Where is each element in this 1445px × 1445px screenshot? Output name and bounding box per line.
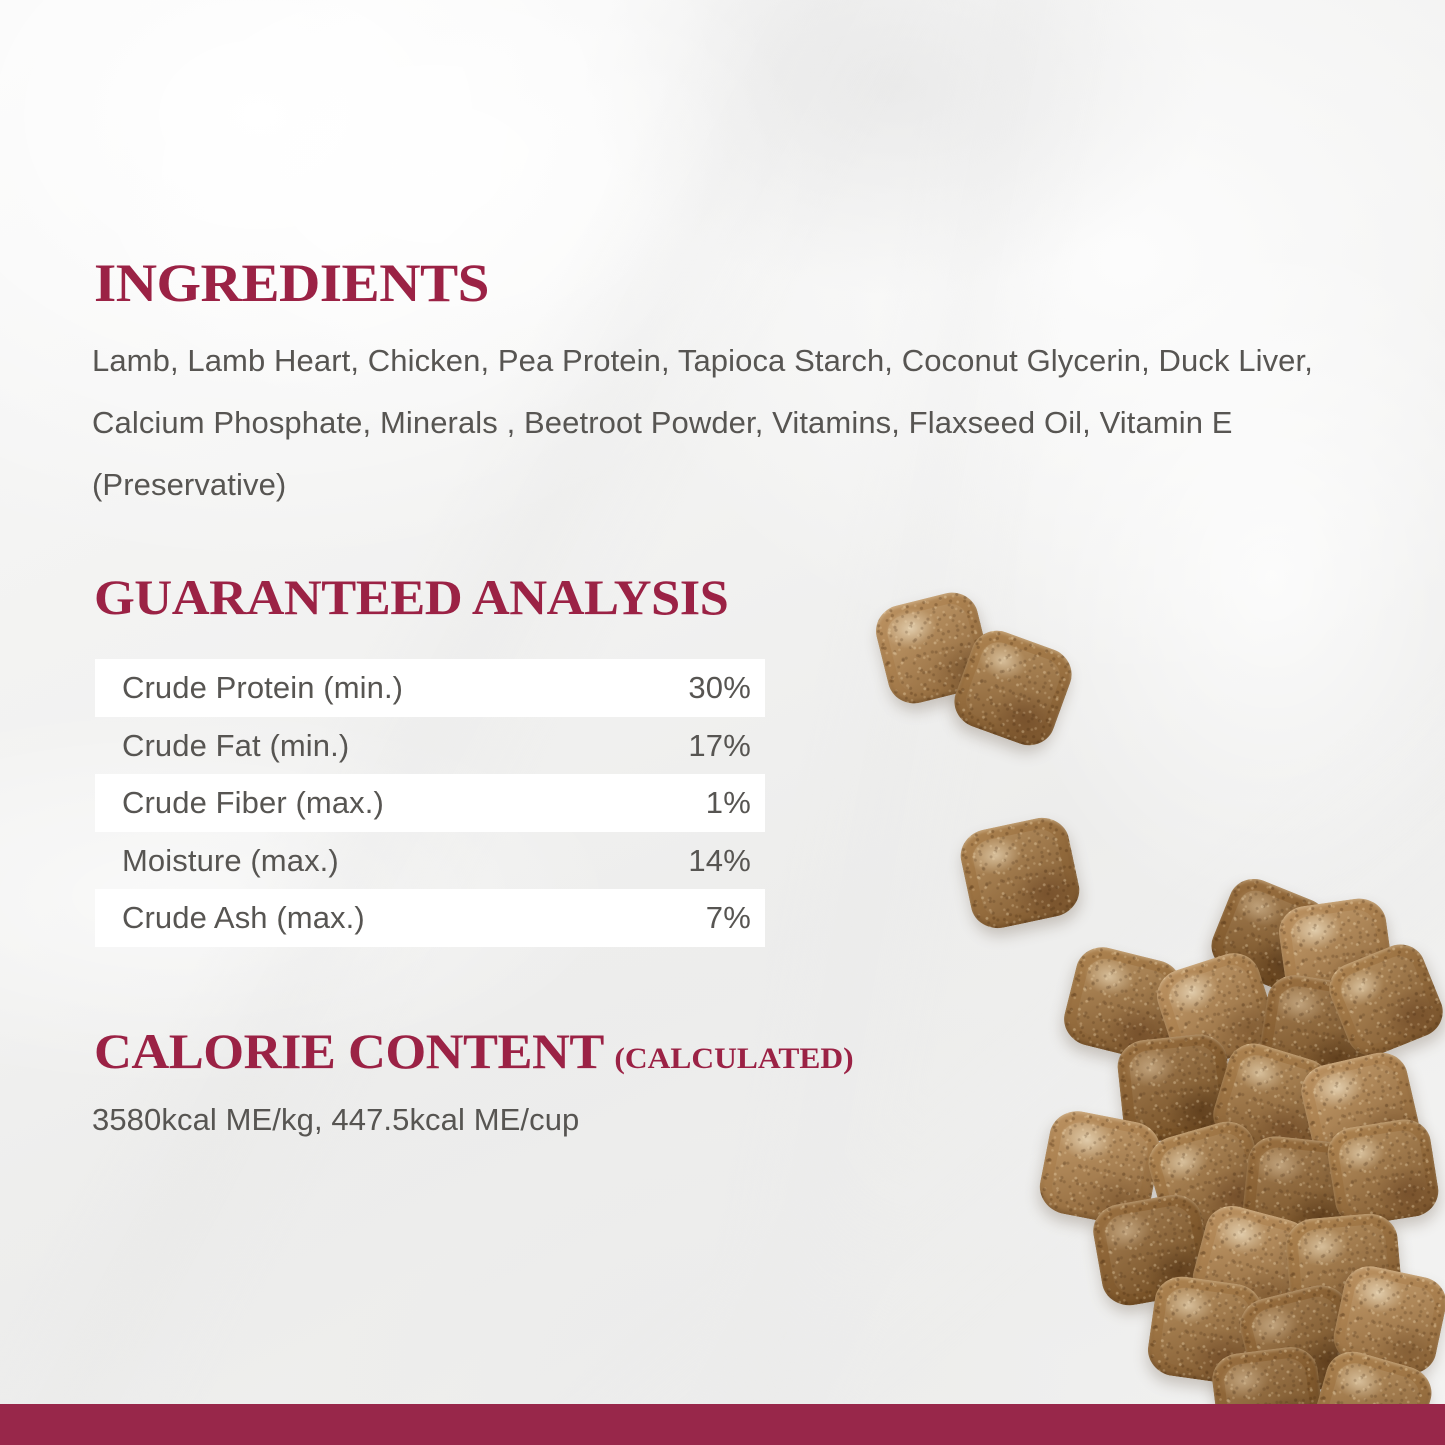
table-row: Crude Fiber (max.)1%: [95, 774, 765, 832]
analysis-value: 1%: [706, 787, 751, 818]
analysis-label: Moisture (max.): [122, 845, 339, 876]
table-row: Moisture (max.)14%: [95, 832, 765, 890]
table-row: Crude Fat (min.)17%: [95, 717, 765, 775]
calorie-content-heading: CALORIE CONTENT(CALCULATED): [94, 1026, 854, 1076]
analysis-label: Crude Fiber (max.): [122, 787, 384, 818]
analysis-value: 7%: [706, 902, 751, 933]
calorie-content-heading-main: CALORIE CONTENT: [94, 1023, 604, 1079]
packaging-panel: INGREDIENTS Lamb, Lamb Heart, Chicken, P…: [0, 0, 1445, 1445]
analysis-label: Crude Fat (min.): [122, 730, 349, 761]
analysis-value: 30%: [688, 672, 751, 703]
ingredients-text: Lamb, Lamb Heart, Chicken, Pea Protein, …: [92, 330, 1382, 516]
calorie-content-text: 3580kcal ME/kg, 447.5kcal ME/cup: [92, 1101, 579, 1138]
analysis-value: 17%: [688, 730, 751, 761]
table-row: Crude Protein (min.)30%: [95, 659, 765, 717]
guaranteed-analysis-heading: GUARANTEED ANALYSIS: [94, 572, 728, 622]
analysis-label: Crude Protein (min.): [122, 672, 403, 703]
content-layer: INGREDIENTS Lamb, Lamb Heart, Chicken, P…: [0, 0, 1445, 1445]
table-row: Crude Ash (max.)7%: [95, 889, 765, 947]
guaranteed-analysis-table: Crude Protein (min.)30%Crude Fat (min.)1…: [95, 659, 765, 947]
ingredients-heading: INGREDIENTS: [94, 256, 489, 310]
bottom-accent-bar: [0, 1404, 1445, 1445]
calorie-content-heading-suffix: (CALCULATED): [614, 1042, 853, 1075]
analysis-label: Crude Ash (max.): [122, 902, 365, 933]
analysis-value: 14%: [688, 845, 751, 876]
